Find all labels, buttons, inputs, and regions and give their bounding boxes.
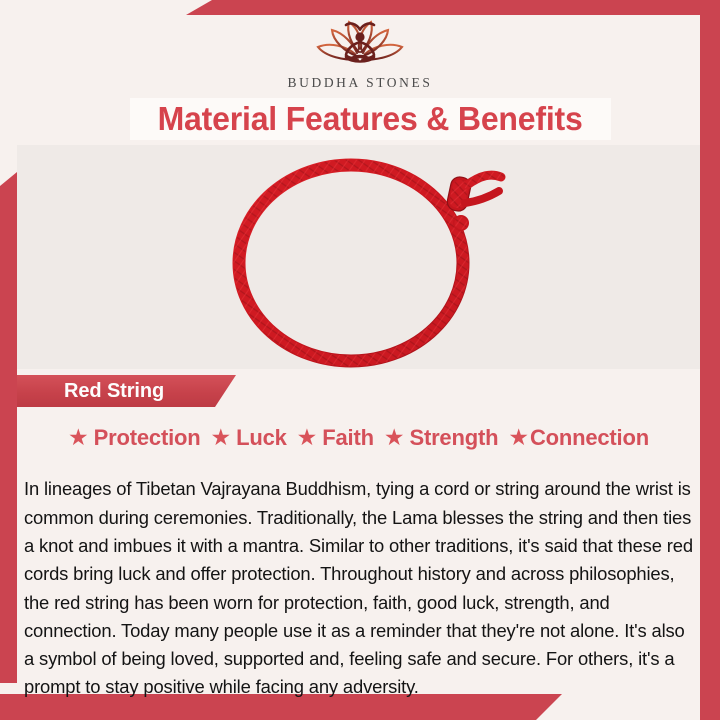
benefit-item: ★ Luck [210,425,286,451]
benefit-label: Faith [322,425,374,451]
poster-root: BUDDHA STONES Material Features & Benefi… [0,0,720,720]
benefit-label: Protection [94,425,201,451]
product-label: Red String [64,380,164,403]
decor-bar-right [700,15,720,720]
product-label-banner: Red String [17,375,236,407]
description-text: In lineages of Tibetan Vajrayana Buddhis… [24,475,696,701]
benefit-item: ★ Protection [68,425,200,451]
benefit-label: Connection [530,425,649,451]
brand-name: BUDDHA STONES [0,75,720,91]
page-title: Material Features & Benefits [158,100,583,138]
benefits-row: ★ Protection ★ Luck ★ Faith ★ Strength ★… [17,420,700,456]
benefit-item: ★ Faith [297,425,374,451]
title-banner: Material Features & Benefits [130,98,611,140]
star-icon: ★ [210,426,231,449]
benefit-label: Luck [236,425,287,451]
product-image-area [17,145,700,369]
star-icon: ★ [508,426,529,449]
decor-bar-left [0,172,17,683]
benefit-item: ★ Strength [384,425,498,451]
star-icon: ★ [68,426,89,449]
red-braided-string-bracelet-icon [209,145,509,369]
lotus-meditation-icon [300,16,420,72]
benefit-label: Strength [409,425,498,451]
star-icon: ★ [297,426,318,449]
star-icon: ★ [384,426,405,449]
decor-bar-top [186,0,720,15]
benefit-item: ★ Connection [508,425,649,451]
brand-logo: BUDDHA STONES [0,16,720,91]
